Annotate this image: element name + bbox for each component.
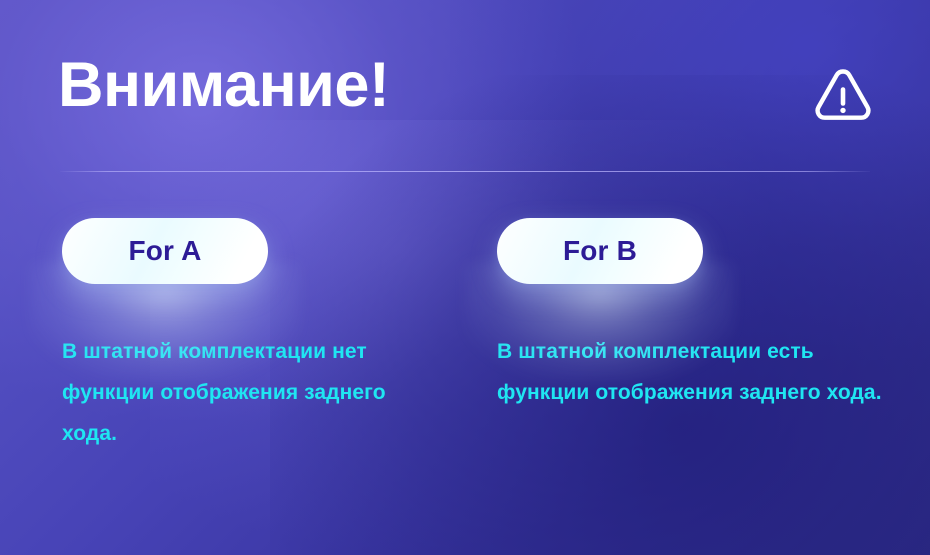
pill-wrapper-b: For B [497,218,703,284]
pill-button-for-a[interactable]: For A [62,218,268,284]
pill-label-for-a: For A [128,235,201,267]
column-for-b: For B В штатной комплектации есть функци… [497,218,897,435]
column-body-for-a: В штатной комплектации нет функции отобр… [62,332,442,455]
pill-wrapper-a: For A [62,218,268,284]
column-body-for-b: В штатной комплектации есть функции отоб… [497,332,882,414]
slide-content: Внимание! For A В штатной комплектации н… [0,0,930,555]
header-divider [60,171,870,172]
warning-triangle-icon [810,63,876,129]
warning-slide: Внимание! For A В штатной комплектации н… [0,0,930,555]
page-title: Внимание! [58,52,389,118]
column-for-a: For A В штатной комплектации нет функции… [62,218,462,476]
pill-button-for-b[interactable]: For B [497,218,703,284]
pill-label-for-b: For B [563,235,637,267]
